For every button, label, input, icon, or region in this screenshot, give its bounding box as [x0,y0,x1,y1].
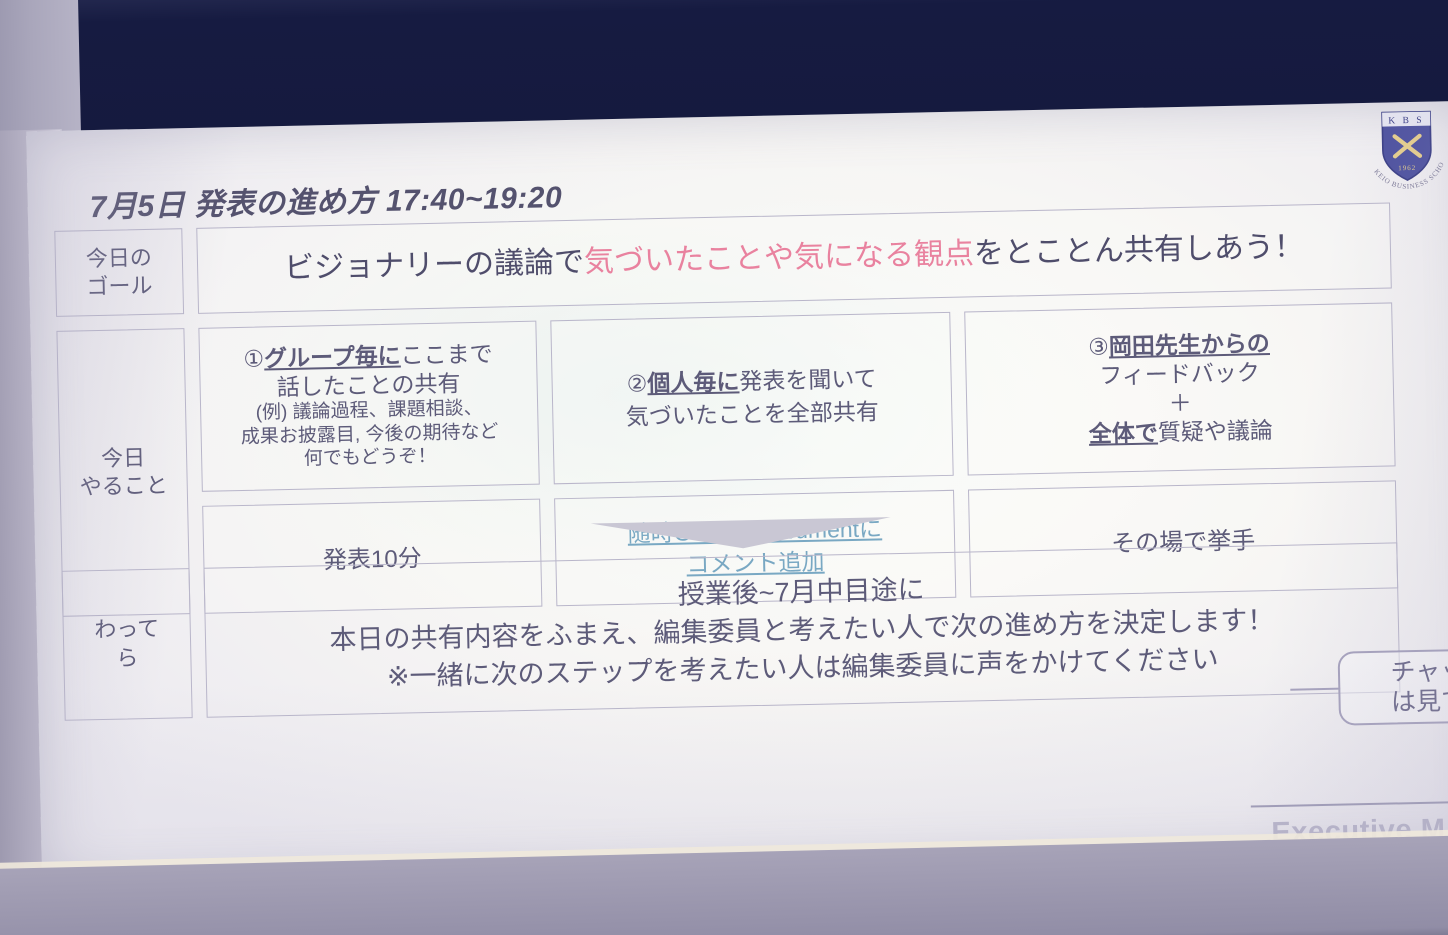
card2-number: ② [626,371,647,397]
todo-card-1: ①グループ毎にここまで 話したことの共有 (例) 議論過程、課題相談、 成果お披… [198,321,539,492]
chat-callout: チャッ は見て [1338,648,1448,726]
after-line1: 授業後~7月中目途に [677,570,925,614]
card3-line4-rest: 質疑や議論 [1158,417,1274,445]
footer-divider [1251,800,1448,808]
down-arrow-icon [591,513,892,553]
goal-label-line2: ゴール [86,272,153,302]
card1-emphasis: グループ毎に [264,343,401,372]
page-title: 7月5日 発表の進め方 17:40~19:20 [89,172,562,226]
card2-line2: 気づいたことを全部共有 [626,395,880,433]
callout-line2: は見て [1391,686,1448,718]
todo-label-line2: やること [79,472,168,502]
todo-card-2: ②個人毎に発表を聞いて 気づいたことを全部共有 [550,312,953,484]
goal-text-highlight: 気づいたことや気になる観点 [584,236,975,280]
card3-emphasis2: 全体で [1089,419,1159,446]
card3-line3: ＋ [1088,387,1273,420]
card2-emphasis: 個人毎に [647,369,740,397]
slide-content: 7月5日 発表の進め方 17:40~19:20 K B S 1962 KEIO … [26,101,1448,884]
kbs-logo-icon: K B S 1962 KEIO BUSINESS SCHOOL [1364,103,1448,193]
card2-line1-rest: 発表を聞いて [739,366,877,395]
after-text-cell: 授業後~7月中目途に 本日の共有内容をふまえ、編集委員と考えたい人で次の進め方を… [203,542,1400,717]
page-title-text: 7月5日 発表の進め方 17:40~19:20 [89,181,562,224]
card1-number: ① [243,346,264,372]
photographed-slide-scene: 7月5日 発表の進め方 17:40~19:20 K B S 1962 KEIO … [0,0,1448,935]
todo-label-line1: 今日 [79,443,168,473]
after-label-line1: わって [94,615,160,645]
after-class-row: わって ら 授業後~7月中目途に 本日の共有内容をふまえ、編集委員と考えたい人で… [62,542,1401,720]
card1-line1-rest: ここまで [400,341,493,369]
svg-text:K B S: K B S [1388,116,1424,127]
card3-line2: フィードバック [1087,358,1272,391]
card3-emphasis: 岡田先生からの [1109,330,1271,359]
todo-card-3: ③岡田先生からの フィードバック ＋ 全体で質疑や議論 [964,302,1395,475]
callout-line1: チャッ [1390,655,1448,687]
goal-row-label: 今日の ゴール [54,228,184,317]
projection-screen: 7月5日 発表の進め方 17:40~19:20 K B S 1962 KEIO … [26,101,1448,884]
goal-label-line1: 今日の [86,244,153,274]
todo-cards-top: ①グループ毎にここまで 話したことの共有 (例) 議論過程、課題相談、 成果お披… [198,302,1395,491]
svg-text:1962: 1962 [1398,164,1416,172]
goal-text-before: ビジョナリーの議論で [284,245,585,287]
goal-text-after: をとことん共有しあう！ [974,229,1305,272]
after-label-line2: ら [95,644,161,674]
card3-number: ③ [1088,334,1109,360]
after-row-label: わって ら [62,568,193,721]
